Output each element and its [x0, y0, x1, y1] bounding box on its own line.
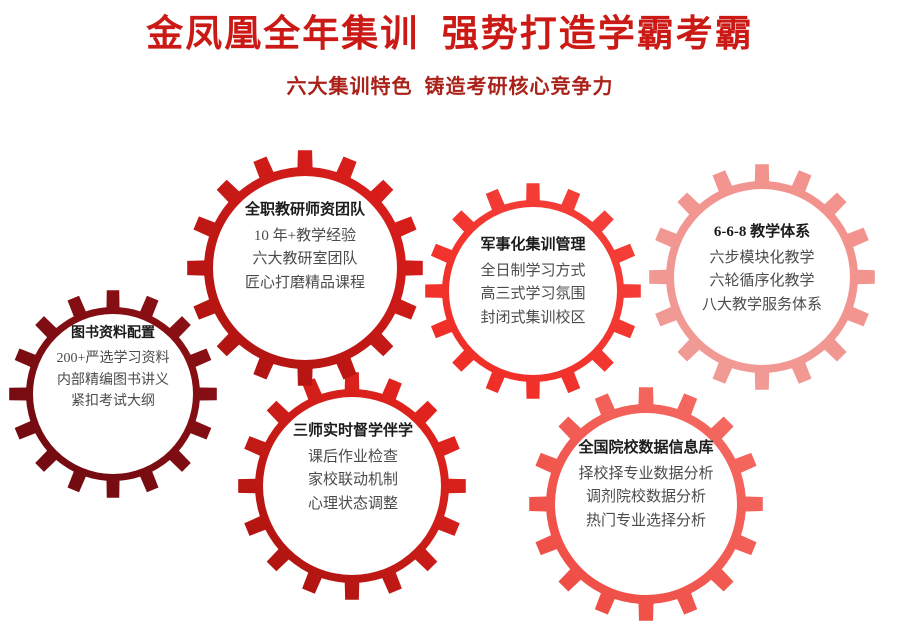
- poster-header: 金凤凰全年集训 强势打造学霸考霸 六大集训特色 铸造考研核心竞争力: [0, 0, 900, 99]
- gear-668-teaching-system: [643, 158, 881, 396]
- gear-hub-fill: [450, 208, 617, 375]
- gear-three-teacher-supervision: [232, 366, 472, 606]
- gear-hub-fill: [556, 414, 737, 595]
- gear-national-school-database: [523, 381, 769, 622]
- page-title: 金凤凰全年集训 强势打造学霸考霸: [0, 0, 900, 58]
- poster-canvas: 金凤凰全年集训 强势打造学霸考霸 六大集训特色 铸造考研核心竞争力 图书资料配置…: [0, 0, 900, 622]
- gear-hub-fill: [264, 398, 441, 575]
- gear-books-materials: [3, 284, 223, 504]
- gear-hub-fill: [214, 177, 397, 360]
- gear-hub-fill: [34, 315, 193, 474]
- page-subtitle: 六大集训特色 铸造考研核心竞争力: [0, 58, 900, 99]
- gear-hub-fill: [675, 190, 850, 365]
